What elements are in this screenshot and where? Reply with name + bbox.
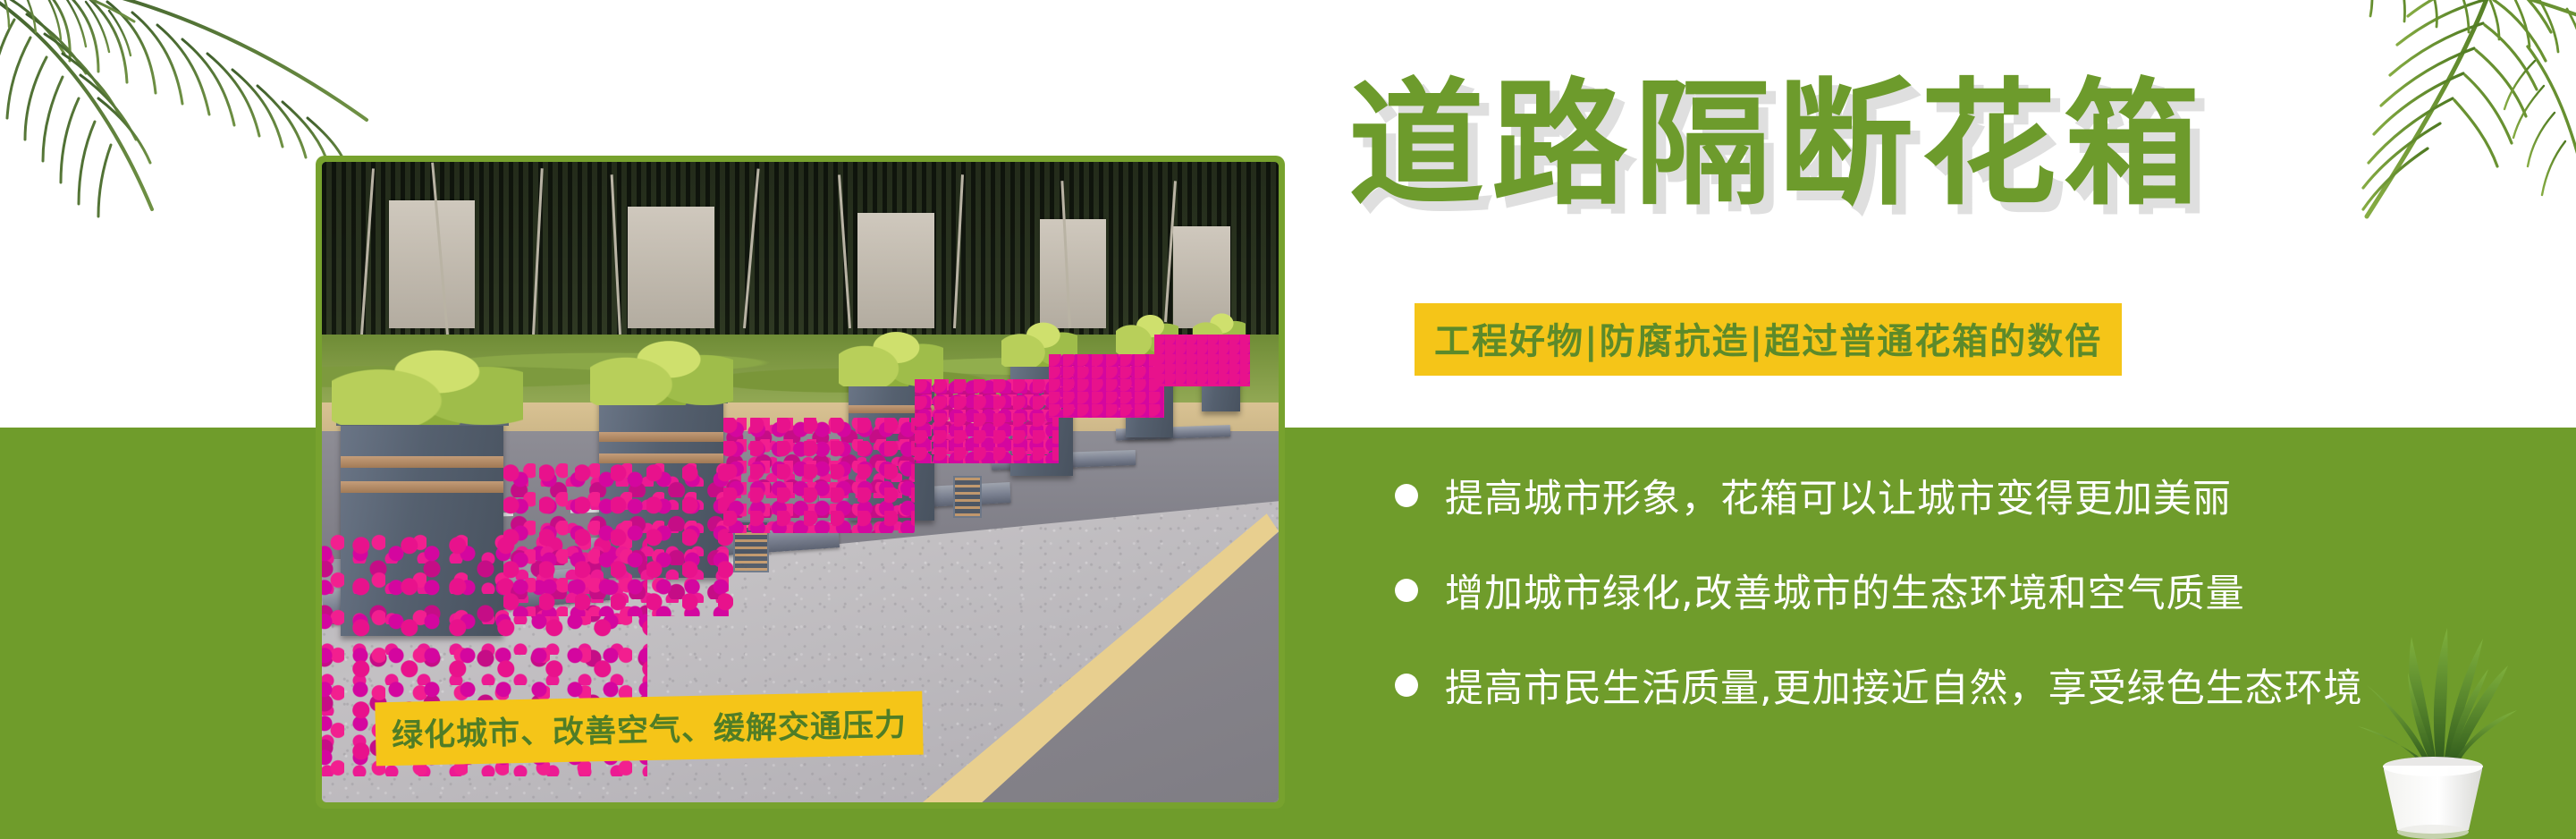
list-item: 提高城市形象，花箱可以让城市变得更加美丽 xyxy=(1395,458,2575,533)
list-item-label: 提高市民生活质量,更加接近自然，享受绿色生态环境 xyxy=(1445,657,2363,713)
bullet-dot-icon xyxy=(1395,484,1418,507)
palm-leaf-icon xyxy=(2233,0,2576,225)
bullet-dot-icon xyxy=(1395,579,1418,602)
subtitle-badge: 工程好物|防腐抗造|超过普通花箱的数倍 xyxy=(1415,303,2122,376)
list-item-label: 提高城市形象，花箱可以让城市变得更加美丽 xyxy=(1445,468,2232,523)
photo-caption: 绿化城市、改善空气、缓解交通压力 xyxy=(375,691,923,767)
bullet-dot-icon xyxy=(1395,674,1418,697)
road-divider-flower-box-photo: 绿化城市、改善空气、缓解交通压力 xyxy=(316,156,1285,809)
list-item-label: 增加城市绿化,改善城市的生态环境和空气质量 xyxy=(1445,563,2245,618)
potted-plant-icon xyxy=(2326,606,2540,839)
product-banner: 绿化城市、改善空气、缓解交通压力 道路隔断花箱 工程好物|防腐抗造|超过普通花箱… xyxy=(0,0,2576,839)
page-title: 道路隔断花箱 xyxy=(1348,77,2207,213)
